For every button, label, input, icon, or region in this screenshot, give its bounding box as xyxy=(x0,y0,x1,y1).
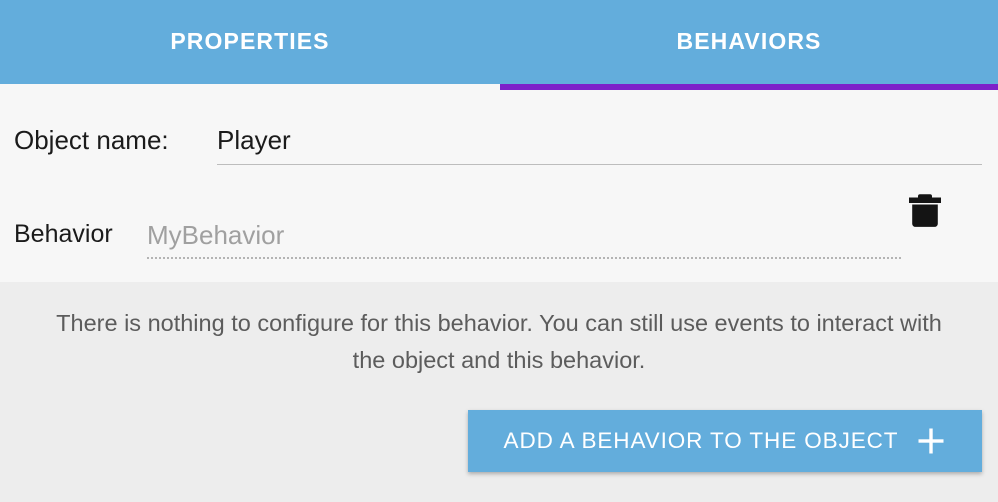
behavior-row: Behavior MyBehavior xyxy=(14,212,982,264)
add-behavior-button-label: ADD A BEHAVIOR TO THE OBJECT xyxy=(504,428,899,454)
behavior-label: Behavior xyxy=(14,220,113,249)
object-name-label: Object name: xyxy=(14,125,169,156)
object-name-row: Object name: Player xyxy=(14,117,982,167)
empty-configuration-message: There is nothing to configure for this b… xyxy=(40,305,958,379)
tab-behaviors[interactable]: BEHAVIORS xyxy=(500,0,998,84)
object-fields-panel: Object name: Player Behavior MyBehavior xyxy=(0,90,998,282)
tab-bar: PROPERTIES BEHAVIORS xyxy=(0,0,998,84)
tab-properties-label: PROPERTIES xyxy=(170,30,329,55)
plus-icon xyxy=(916,426,946,456)
tab-properties[interactable]: PROPERTIES xyxy=(0,0,500,84)
object-name-input[interactable]: Player xyxy=(217,117,982,165)
delete-behavior-button[interactable] xyxy=(893,178,957,242)
object-name-value: Player xyxy=(217,125,291,156)
tab-behaviors-label: BEHAVIORS xyxy=(677,30,822,55)
add-behavior-to-object-button[interactable]: ADD A BEHAVIOR TO THE OBJECT xyxy=(468,410,982,472)
behavior-name-value: MyBehavior xyxy=(147,220,284,251)
behavior-name-input[interactable]: MyBehavior xyxy=(147,212,901,259)
trash-icon xyxy=(907,192,943,228)
